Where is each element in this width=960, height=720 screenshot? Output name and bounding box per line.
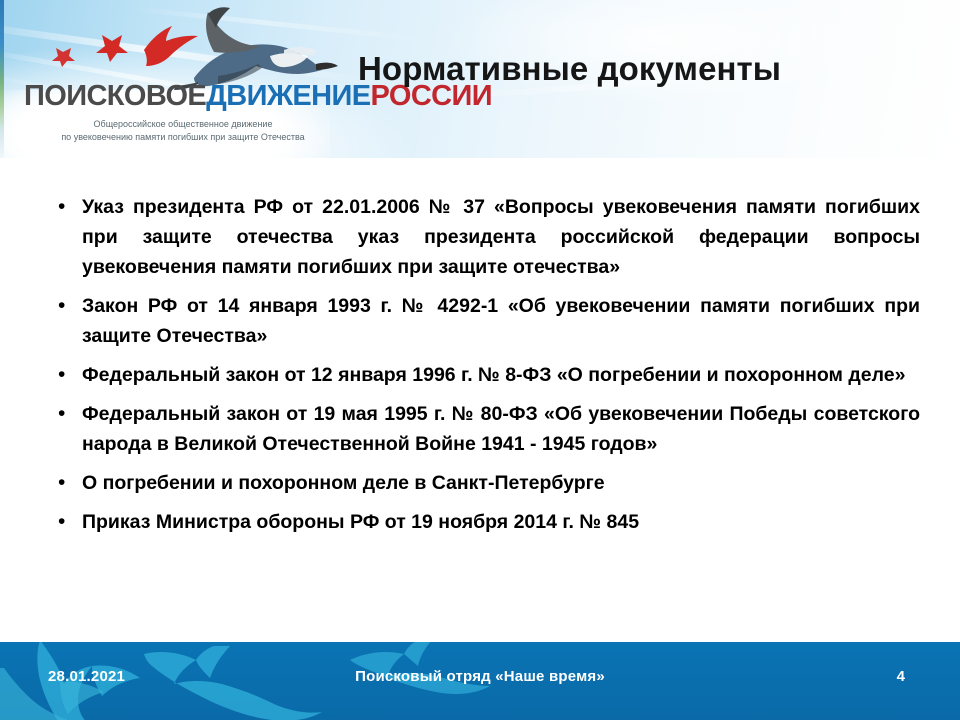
list-item-text: О погребении и похоронном деле в Санкт-П… bbox=[82, 468, 920, 498]
list-item: • О погребении и похоронном деле в Санкт… bbox=[48, 468, 920, 498]
list-item: • Закон РФ от 14 января 1993 г. № 4292-1… bbox=[48, 291, 920, 351]
bullet-marker-icon: • bbox=[48, 507, 82, 537]
banner-edge-strip bbox=[0, 0, 4, 158]
logo-word-dvizhenie: ДВИЖЕНИЕ bbox=[206, 80, 370, 112]
logo-subtitle-line-2: по увековечению памяти погибших при защи… bbox=[18, 131, 348, 144]
list-item-text: Федеральный закон от 19 мая 1995 г. № 80… bbox=[82, 399, 920, 459]
logo-subtitle-line-1: Общероссийское общественное движение bbox=[18, 118, 348, 131]
list-item: • Указ президента РФ от 22.01.2006 № 37 … bbox=[48, 192, 920, 282]
slide: ПОИСКОВОЕДВИЖЕНИЕРОССИИ Общероссийское о… bbox=[0, 0, 960, 720]
bullet-marker-icon: • bbox=[48, 468, 82, 498]
bullet-marker-icon: • bbox=[48, 291, 82, 321]
list-item: • Федеральный закон от 19 мая 1995 г. № … bbox=[48, 399, 920, 459]
list-item-text: Федеральный закон от 12 января 1996 г. №… bbox=[82, 360, 920, 390]
list-item: • Приказ Министра обороны РФ от 19 ноябр… bbox=[48, 507, 920, 537]
header-banner: ПОИСКОВОЕДВИЖЕНИЕРОССИИ Общероссийское о… bbox=[0, 0, 960, 158]
bullet-marker-icon: • bbox=[48, 192, 82, 222]
bullet-marker-icon: • bbox=[48, 399, 82, 429]
slide-footer: 28.01.2021 Поисковый отряд «Наше время» … bbox=[0, 642, 960, 720]
logo-wordmark: ПОИСКОВОЕДВИЖЕНИЕРОССИИ bbox=[24, 82, 344, 111]
bullet-list: • Указ президента РФ от 22.01.2006 № 37 … bbox=[48, 192, 920, 546]
list-item-text: Закон РФ от 14 января 1993 г. № 4292-1 «… bbox=[82, 291, 920, 351]
organization-logo: ПОИСКОВОЕДВИЖЕНИЕРОССИИ Общероссийское о… bbox=[18, 4, 348, 154]
footer-organization: Поисковый отряд «Наше время» bbox=[0, 668, 960, 685]
logo-word-poiskovoe: ПОИСКОВОЕ bbox=[24, 80, 206, 112]
list-item-text: Приказ Министра обороны РФ от 19 ноября … bbox=[82, 507, 920, 537]
list-item-text: Указ президента РФ от 22.01.2006 № 37 «В… bbox=[82, 192, 920, 282]
list-item: • Федеральный закон от 12 января 1996 г.… bbox=[48, 360, 920, 390]
page-number: 4 bbox=[897, 668, 905, 685]
bullet-marker-icon: • bbox=[48, 360, 82, 390]
page-title: Нормативные документы bbox=[358, 50, 944, 88]
logo-subtitle: Общероссийское общественное движение по … bbox=[18, 118, 348, 144]
